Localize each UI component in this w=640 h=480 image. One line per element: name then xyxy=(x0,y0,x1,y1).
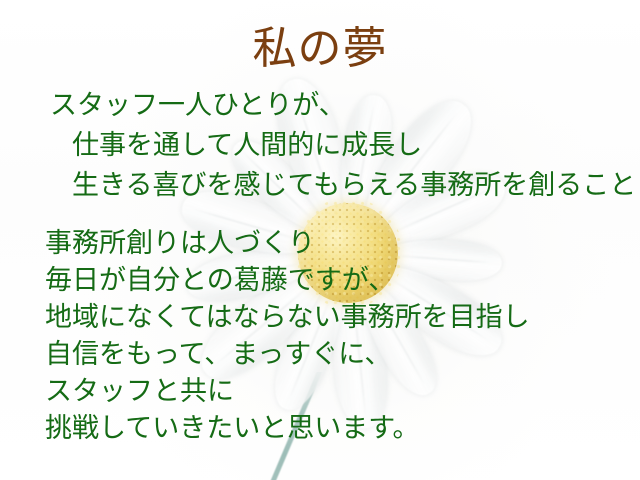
body-text-line-6: 挑戦していきたいと思います。 xyxy=(45,413,420,443)
body-text-line-1: 事務所創りは人づくり xyxy=(45,228,315,258)
body-text-line-2: 仕事を通して人間的に成長し xyxy=(72,130,422,160)
page-title: 私の夢 xyxy=(0,22,640,76)
body-text-line-5: スタッフと共に xyxy=(45,376,234,406)
body-text-line-3: 地域になくてはならない事務所を目指し xyxy=(45,302,530,332)
body-text-line-4: 自信をもって、まっすぐに、 xyxy=(45,339,391,369)
presentation-slide: 私の夢 スタッフ一人ひとりが、仕事を通して人間的に成長し生きる喜びを感じてもらえ… xyxy=(0,0,640,480)
slide-content: 私の夢 スタッフ一人ひとりが、仕事を通して人間的に成長し生きる喜びを感じてもらえ… xyxy=(0,0,640,480)
body-text-line-3: 生きる喜びを感じてもらえる事務所を創ること xyxy=(72,170,636,200)
body-text-line-2: 毎日が自分との葛藤ですが、 xyxy=(45,265,395,295)
body-text-line-1: スタッフ一人ひとりが、 xyxy=(50,90,346,120)
